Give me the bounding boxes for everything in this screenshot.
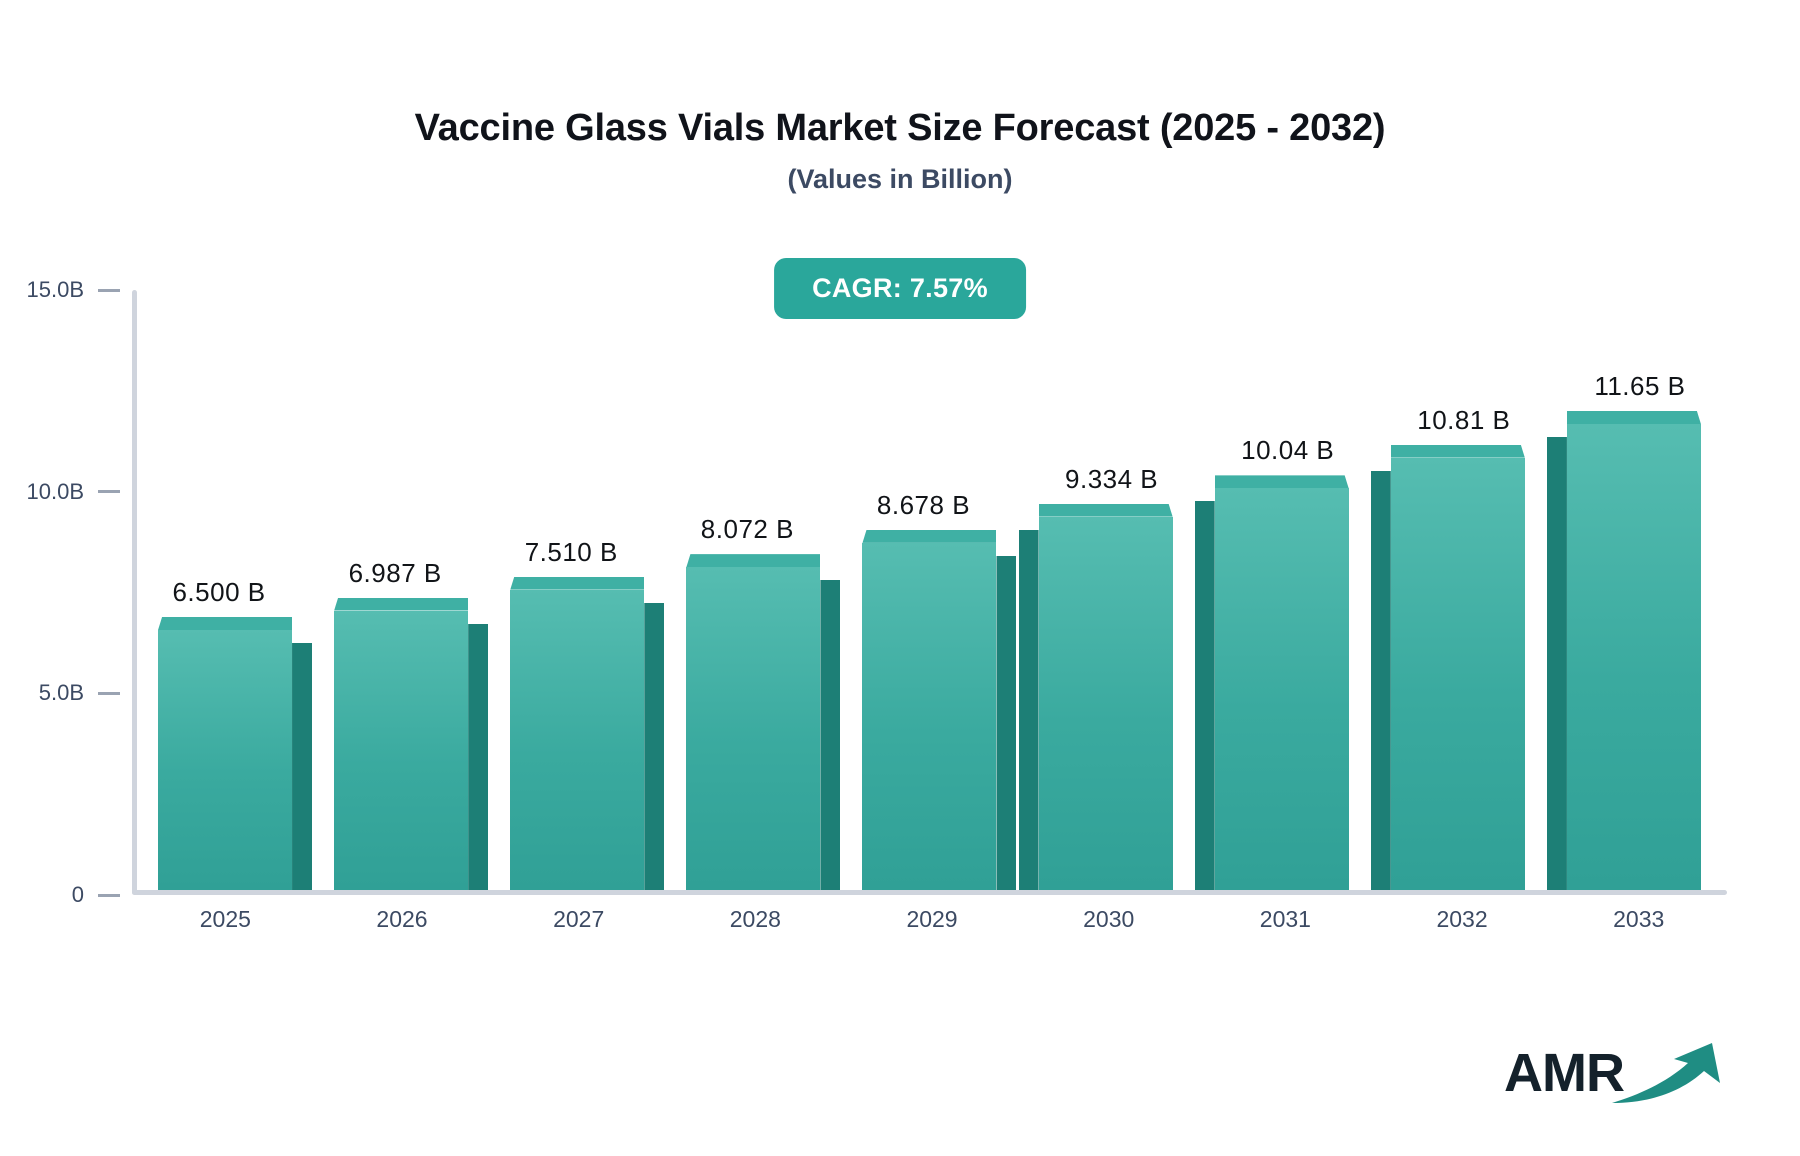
x-axis-label: 2030 <box>1020 906 1197 933</box>
bar-slot: 7.510 B <box>489 290 665 890</box>
x-axis-label: 2033 <box>1550 906 1727 933</box>
x-axis-label: 2031 <box>1197 906 1374 933</box>
bar-slot: 8.678 B <box>841 290 1017 890</box>
x-axis-labels: 202520262027202820292030203120322033 <box>137 906 1727 933</box>
bar-slot: 6.987 B <box>313 290 489 890</box>
bar-side-face <box>1547 437 1567 890</box>
logo-wordmark: AMR <box>1504 1046 1624 1100</box>
y-axis-tick: 15.0B <box>27 277 133 303</box>
bar-side-face <box>1019 530 1039 890</box>
x-axis-line <box>132 890 1727 895</box>
growth-arrow-icon <box>1608 1037 1738 1114</box>
bar[interactable]: 7.510 B <box>510 590 644 890</box>
bar-value-label: 6.500 B <box>172 577 265 608</box>
bar-slot: 8.072 B <box>665 290 841 890</box>
bar-value-label: 7.510 B <box>525 537 618 568</box>
bar-value-label: 11.65 B <box>1594 371 1685 402</box>
x-axis-label: 2026 <box>314 906 491 933</box>
bar-front-face <box>1567 424 1701 890</box>
bar-value-label: 9.334 B <box>1065 464 1158 495</box>
x-axis-label: 2028 <box>667 906 844 933</box>
bar-value-label: 8.678 B <box>877 490 970 521</box>
bar-value-label: 10.04 B <box>1241 435 1334 466</box>
bar-top-face <box>1391 445 1525 458</box>
y-axis-tick-label: 10.0B <box>27 479 99 505</box>
bar-front-face <box>1039 517 1173 890</box>
y-axis-tick: 5.0B <box>39 680 132 706</box>
bar[interactable]: 9.334 B <box>1039 517 1173 890</box>
x-axis-label: 2032 <box>1374 906 1551 933</box>
plot-area: 15.0B 10.0B 5.0B 0 6.500 B6.987 B7.510 B… <box>132 290 1722 895</box>
y-axis-tick-label: 15.0B <box>27 277 99 303</box>
bar-slot: 11.65 B <box>1546 290 1722 890</box>
bar-side-face <box>1195 501 1215 890</box>
bar[interactable]: 8.678 B <box>862 543 996 890</box>
y-axis-tick-label: 0 <box>72 882 98 908</box>
bar-side-face <box>292 643 312 890</box>
bar[interactable]: 11.65 B <box>1567 424 1701 890</box>
bar-front-face <box>510 590 644 890</box>
bar-slot: 6.500 B <box>137 290 313 890</box>
y-axis-tick-dash-icon <box>98 289 120 292</box>
bar-top-face <box>158 617 292 630</box>
bar-front-face <box>862 543 996 890</box>
title-block: Vaccine Glass Vials Market Size Forecast… <box>0 108 1800 195</box>
bar-side-face <box>996 556 1016 890</box>
bar-value-label: 8.072 B <box>701 514 794 545</box>
bar-front-face <box>1391 458 1525 890</box>
y-axis-tick-dash-icon <box>98 490 120 493</box>
bar-value-label: 10.81 B <box>1417 405 1510 436</box>
bar-slot: 10.04 B <box>1194 290 1370 890</box>
bar-front-face <box>334 611 468 890</box>
bar-front-face <box>686 567 820 890</box>
bar[interactable]: 6.500 B <box>158 630 292 890</box>
y-axis-tick-dash-icon <box>98 692 120 695</box>
chart-canvas: Vaccine Glass Vials Market Size Forecast… <box>0 0 1800 1156</box>
x-axis-label: 2029 <box>844 906 1021 933</box>
bar[interactable]: 10.04 B <box>1215 488 1349 890</box>
bar-front-face <box>1215 488 1349 890</box>
bar-series: 6.500 B6.987 B7.510 B8.072 B8.678 B9.334… <box>137 290 1722 890</box>
amr-logo: AMR <box>1504 1031 1738 1114</box>
y-axis-tick: 10.0B <box>27 479 133 505</box>
bar-side-face <box>468 624 488 890</box>
bar-side-face <box>644 603 664 890</box>
bar[interactable]: 10.81 B <box>1391 458 1525 890</box>
bar-slot: 10.81 B <box>1370 290 1546 890</box>
page-title: Vaccine Glass Vials Market Size Forecast… <box>0 108 1800 150</box>
bar[interactable]: 8.072 B <box>686 567 820 890</box>
bar-slot: 9.334 B <box>1018 290 1194 890</box>
bar-top-face <box>510 577 644 590</box>
bar-top-face <box>1567 411 1701 424</box>
bar[interactable]: 6.987 B <box>334 611 468 890</box>
bar-side-face <box>1371 471 1391 890</box>
bar-top-face <box>686 554 820 567</box>
x-axis-label: 2027 <box>490 906 667 933</box>
bar-front-face <box>158 630 292 890</box>
bar-top-face <box>1039 504 1173 517</box>
bar-side-face <box>820 580 840 890</box>
bar-top-face <box>1215 475 1349 488</box>
y-axis-tick-dash-icon <box>98 894 120 897</box>
bar-value-label: 6.987 B <box>349 558 442 589</box>
y-axis-tick-label: 5.0B <box>39 680 98 706</box>
x-axis-label: 2025 <box>137 906 314 933</box>
bar-top-face <box>862 530 996 543</box>
y-axis-tick: 0 <box>72 882 132 908</box>
bar-top-face <box>334 598 468 611</box>
chart-subtitle: (Values in Billion) <box>0 164 1800 195</box>
